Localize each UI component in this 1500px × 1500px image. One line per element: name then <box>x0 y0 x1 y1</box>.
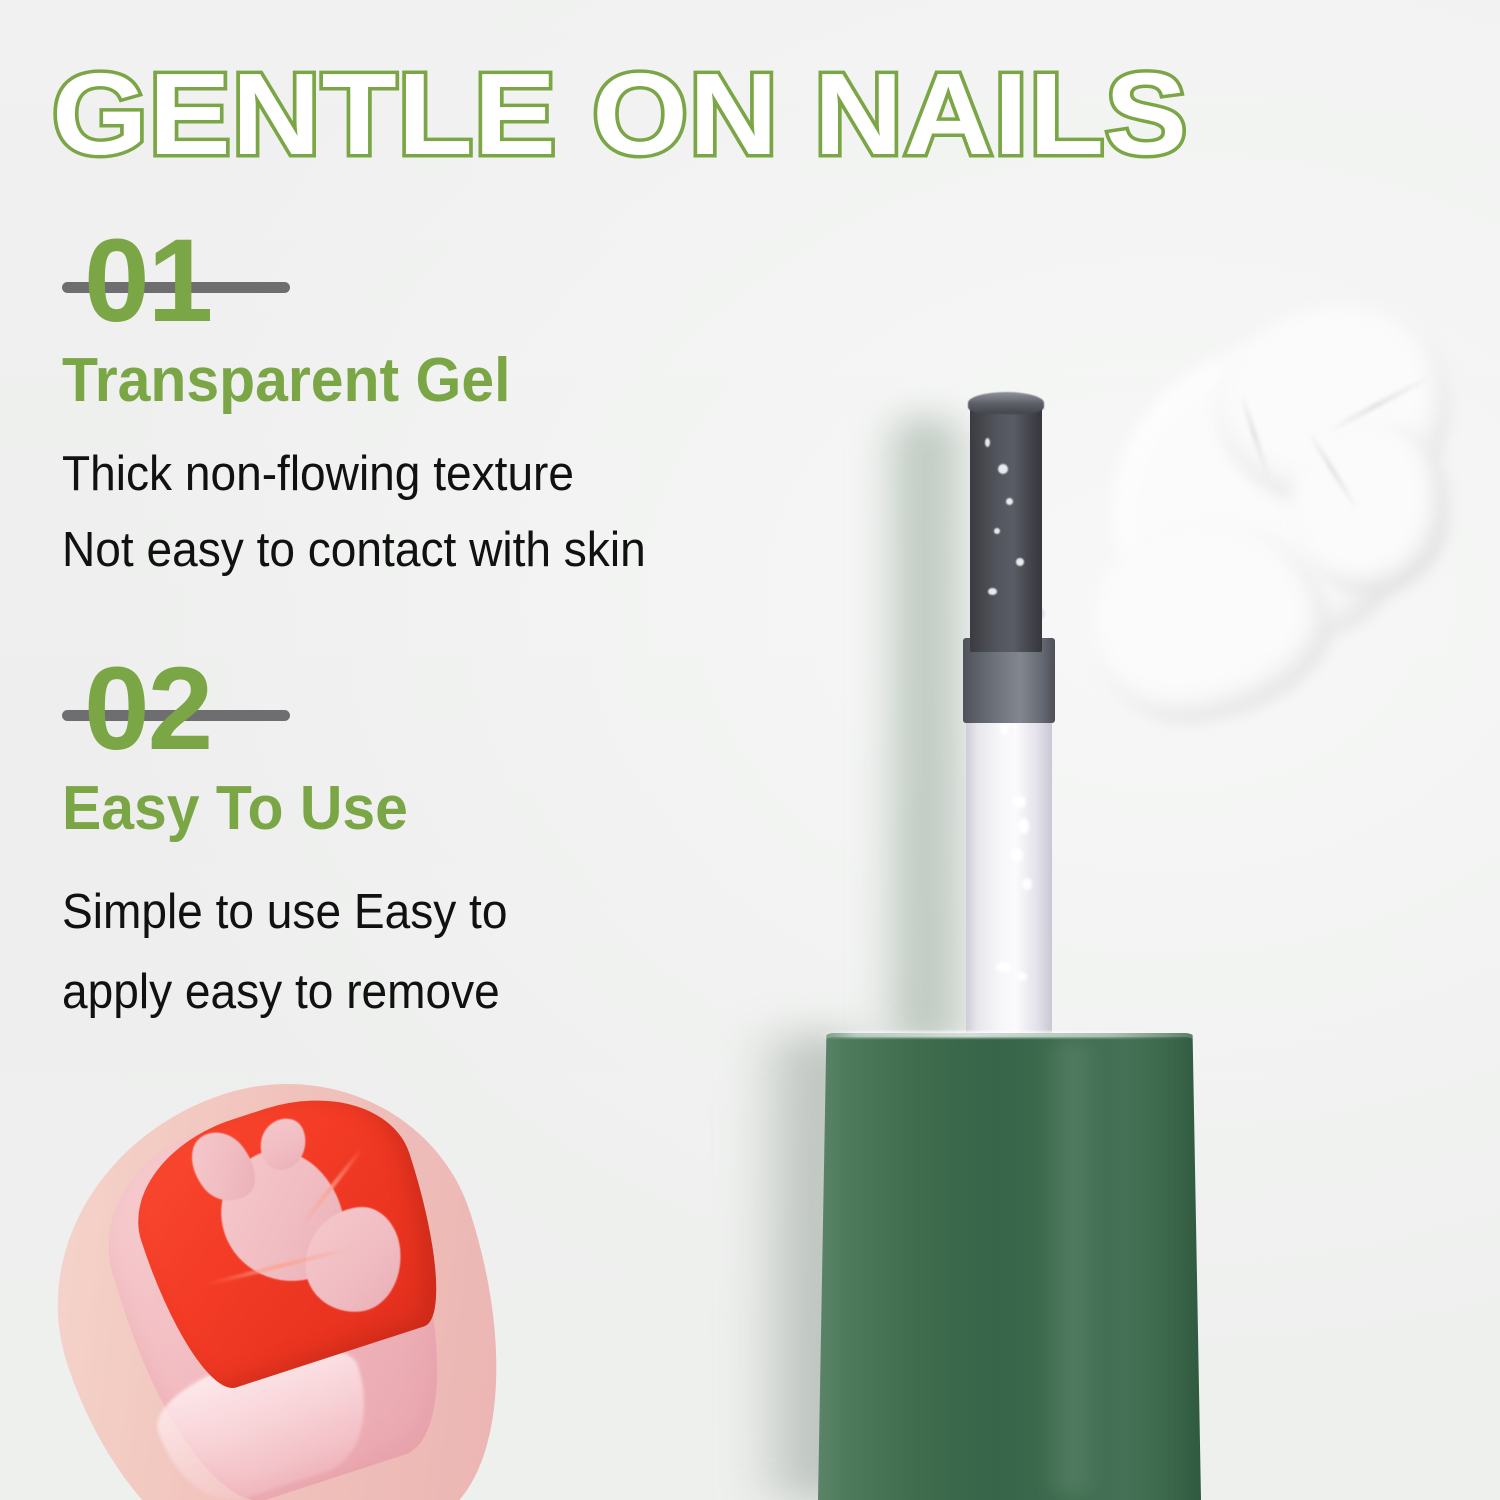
gel-speck <box>988 588 997 595</box>
gel-speck <box>1016 558 1024 566</box>
gel-residue <box>1010 848 1023 862</box>
infographic-canvas: GENTLE ON NAILS 01 Transparent Gel Thick… <box>0 0 1500 1500</box>
brush-stem <box>966 700 1052 1045</box>
bottle-rim <box>818 1031 1201 1038</box>
gel-residue <box>1018 818 1029 834</box>
gel-speck <box>985 438 990 447</box>
bottle-highlight <box>1040 1040 1102 1495</box>
brush-tip <box>970 398 1042 652</box>
gel-residue <box>1016 972 1027 981</box>
gel-residue <box>1022 878 1032 890</box>
gel-speck <box>994 528 1000 534</box>
gel-residue <box>996 962 1012 972</box>
gel-speck <box>998 464 1008 474</box>
gel-residue <box>1012 796 1026 808</box>
nail-demo-image <box>55 1058 595 1500</box>
brush-tip-crown <box>968 392 1044 414</box>
gel-speck <box>1006 498 1013 505</box>
bottle-body <box>818 1033 1201 1500</box>
brush-drop-shadow <box>872 418 980 1048</box>
